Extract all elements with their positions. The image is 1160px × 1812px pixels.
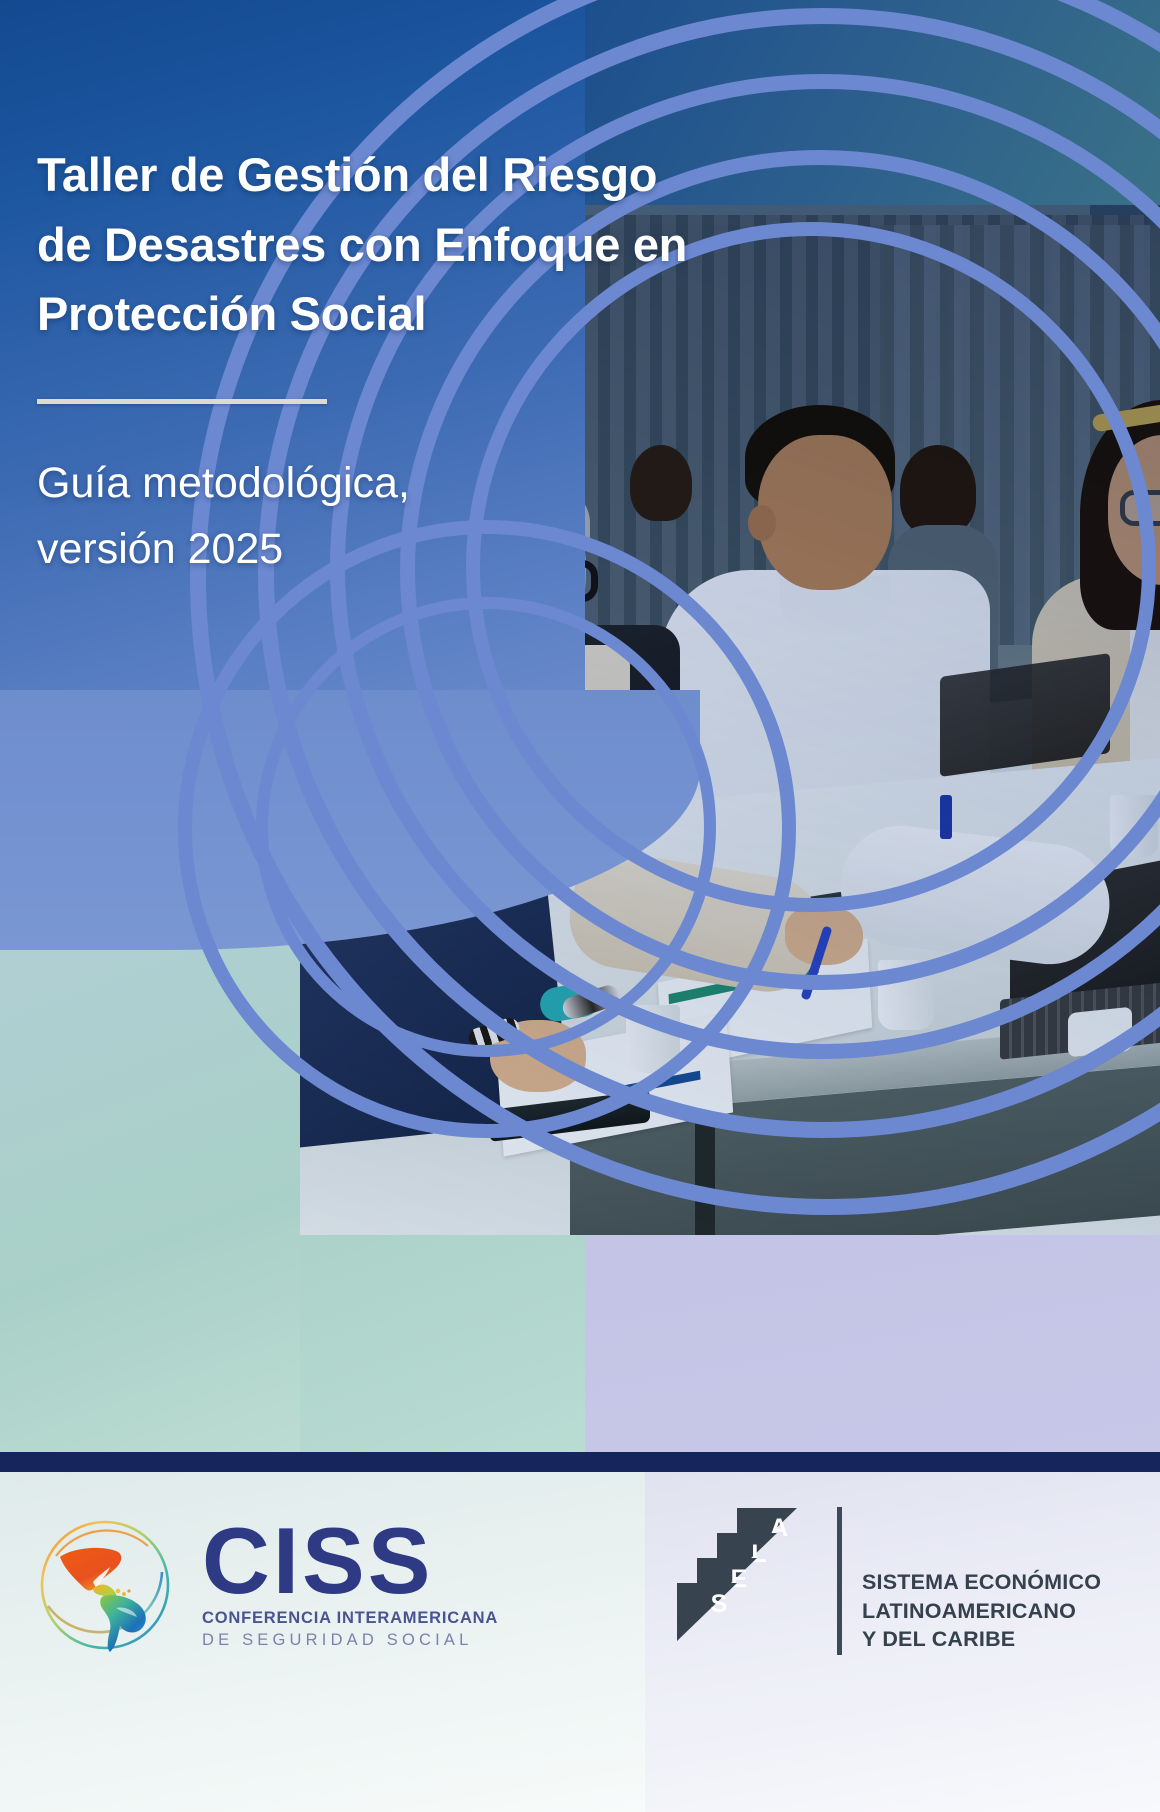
svg-text:L: L [751,1540,766,1568]
cover-page: Taller de Gestión del Riesgo de Desastre… [0,0,1160,1812]
title-block: Taller de Gestión del Riesgo de Desastre… [37,140,797,583]
footer-left: CISS CONFERENCIA INTERAMERICANA DE SEGUR… [0,1472,645,1812]
sela-line-1: SISTEMA ECONÓMICO [862,1568,1101,1597]
cover-artwork: Taller de Gestión del Riesgo de Desastre… [0,0,1160,1452]
title-line-3: Protección Social [37,279,797,349]
page-title: Taller de Gestión del Riesgo de Desastre… [37,140,797,349]
ciss-wordmark: CISS CONFERENCIA INTERAMERICANA DE SEGUR… [202,1520,498,1651]
title-line-1: Taller de Gestión del Riesgo [37,140,797,210]
americas-map-icon [30,1510,180,1660]
subtitle-line-2: versión 2025 [37,516,797,583]
ciss-line-2: DE SEGURIDAD SOCIAL [202,1631,498,1650]
ciss-acronym: CISS [202,1520,498,1603]
sela-divider [837,1507,842,1655]
footer-right: A L E S SISTEMA ECONÓMICO LA [645,1472,1160,1812]
subtitle-line-1: Guía metodológica, [37,450,797,517]
sela-triangles-icon: A L E S [675,1506,823,1656]
sela-line-3: Y DEL CARIBE [862,1625,1101,1654]
svg-text:A: A [770,1514,788,1542]
page-subtitle: Guía metodológica, versión 2025 [37,450,797,583]
svg-text:E: E [731,1565,748,1593]
title-line-2: de Desastres con Enfoque en [37,210,797,280]
navy-divider-bar [0,1452,1160,1472]
sela-line-2: LATINOAMERICANO [862,1597,1101,1626]
sela-wordmark: SISTEMA ECONÓMICO LATINOAMERICANO Y DEL … [862,1568,1101,1656]
footer: CISS CONFERENCIA INTERAMERICANA DE SEGUR… [0,1472,1160,1812]
ciss-line-1: CONFERENCIA INTERAMERICANA [202,1609,498,1628]
ciss-logo: CISS CONFERENCIA INTERAMERICANA DE SEGUR… [30,1510,498,1660]
svg-text:S: S [711,1590,728,1618]
sela-logo: A L E S SISTEMA ECONÓMICO LA [675,1506,1101,1656]
title-divider-rule [37,399,327,404]
